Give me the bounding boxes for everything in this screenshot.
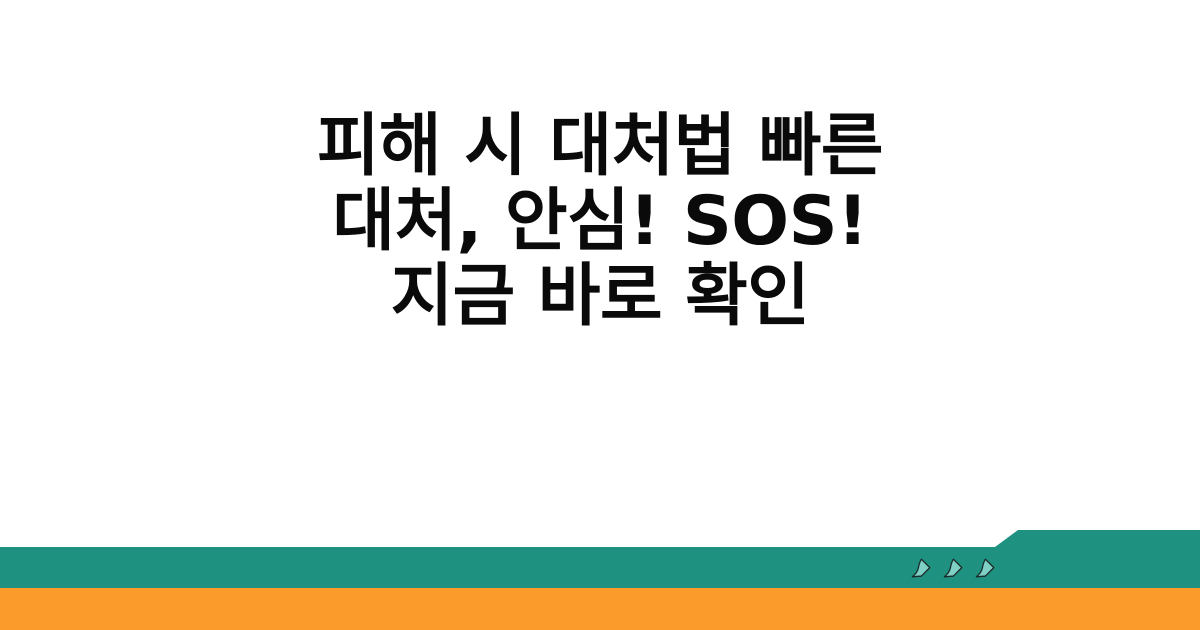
page-title: 피해 시 대처법 빠른 대처, 안심! SOS! 지금 바로 확인	[317, 109, 883, 334]
title-line-2: 대처, 안심! SOS!	[332, 182, 867, 261]
title-line-1: 피해 시 대처법 빠른	[317, 107, 883, 186]
thumbnail-card: 피해 시 대처법 빠른 대처, 안심! SOS! 지금 바로 확인	[0, 0, 1200, 630]
sparkle-diamond-1-icon	[910, 557, 932, 579]
orange-band	[0, 588, 1200, 630]
sparkle-diamond-3-icon	[974, 557, 996, 579]
sparkle-diamond-2-icon	[942, 557, 964, 579]
title-line-3: 지금 바로 확인	[391, 257, 810, 336]
bottom-decoration	[0, 530, 1200, 630]
title-area: 피해 시 대처법 빠른 대처, 안심! SOS! 지금 바로 확인	[0, 0, 1200, 553]
sparkle-group	[910, 555, 1000, 581]
teal-band-step	[995, 530, 1200, 588]
